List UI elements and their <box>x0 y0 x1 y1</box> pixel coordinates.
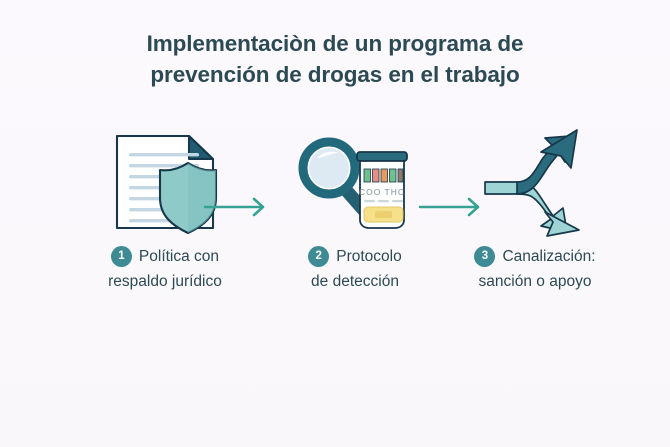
step-2-number-badge: 2 <box>308 246 329 267</box>
slide-canvas: Implementaciòn de un programa de prevenc… <box>0 0 670 447</box>
flow-step-3: 3 Canalización: sanción o apoyo <box>435 126 635 294</box>
step-1-number-badge: 1 <box>111 246 132 267</box>
forked-arrow-icon <box>475 126 595 238</box>
process-flow: 1 Política con respaldo jurídico <box>0 126 670 326</box>
test-cup-label: COO THC <box>359 187 405 197</box>
step-2-caption-line-1: Protocolo <box>336 244 401 269</box>
magnifier-drug-test-cup-icon-slot: COO THC <box>255 126 455 238</box>
forked-arrow-icon-slot <box>435 126 635 238</box>
document-shield-icon <box>103 128 227 236</box>
step-3-number-badge: 3 <box>474 246 495 267</box>
flow-step-3-caption: 3 Canalización: sanción o apoyo <box>435 244 635 294</box>
step-2-caption-line-2: de detección <box>255 269 455 294</box>
flow-step-2-caption: 2 Protocolo de detección <box>255 244 455 294</box>
step-3-caption-line-2: sanción o apoyo <box>435 269 635 294</box>
step-3-caption-line-1: Canalización: <box>502 244 595 269</box>
page-title-line-1: Implementaciòn de un programa de <box>0 28 670 59</box>
flow-step-1-caption: 1 Política con respaldo jurídico <box>65 244 265 294</box>
document-shield-icon-slot <box>65 126 265 238</box>
page-title-line-2: prevención de drogas en el trabajo <box>0 59 670 90</box>
step-1-caption-line-2: respaldo jurídico <box>65 269 265 294</box>
magnifier-drug-test-cup-icon: COO THC <box>295 128 415 236</box>
page-title: Implementaciòn de un programa de prevenc… <box>0 28 670 90</box>
step-1-caption-line-1: Política con <box>139 244 219 269</box>
